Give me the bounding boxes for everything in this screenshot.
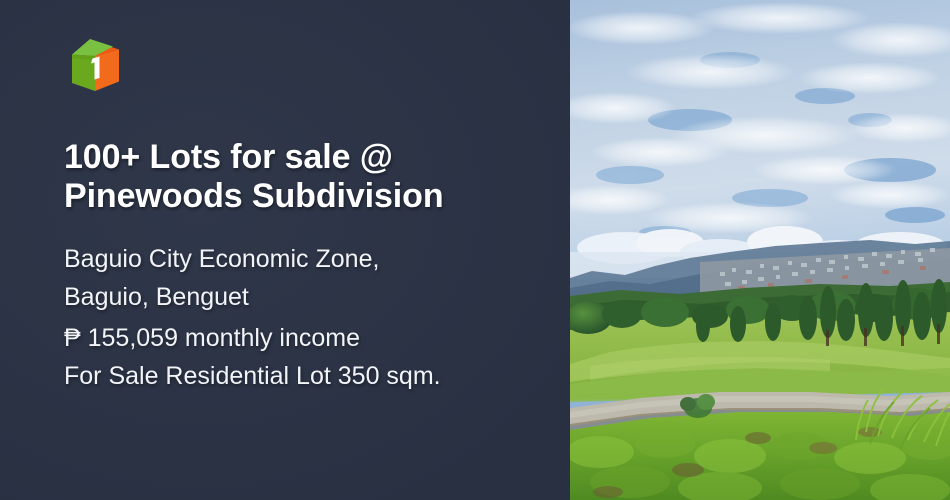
property-landscape-photo	[570, 0, 950, 500]
property-ad-card: 100+ Lots for sale @ Pinewoods Subdivisi…	[0, 0, 950, 500]
listing-location-line-2: Baguio, Benguet	[64, 281, 530, 314]
listing-property-line: For Sale Residential Lot 350 sqm.	[64, 360, 530, 393]
copy-block: 100+ Lots for sale @ Pinewoods Subdivisi…	[64, 138, 530, 399]
listing-info-panel: 100+ Lots for sale @ Pinewoods Subdivisi…	[0, 0, 570, 500]
listing-location-line-1: Baguio City Economic Zone,	[64, 243, 530, 276]
listing-price-line: ₱ 155,059 monthly income	[64, 322, 530, 355]
house-one-logo-icon[interactable]	[64, 36, 126, 98]
listing-headline: 100+ Lots for sale @ Pinewoods Subdivisi…	[64, 138, 524, 217]
